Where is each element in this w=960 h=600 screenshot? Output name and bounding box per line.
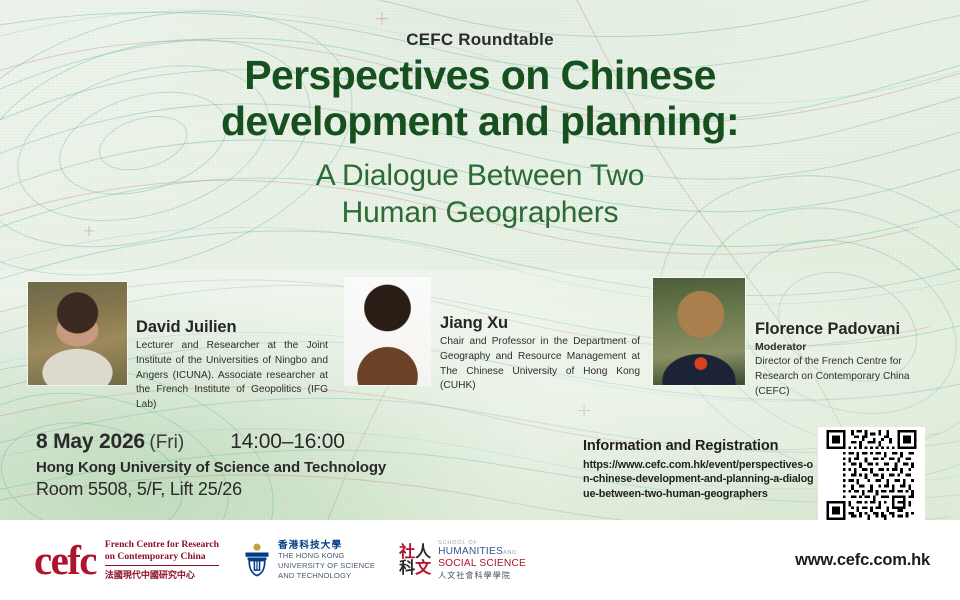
event-venue: Hong Kong University of Science and Tech… [36,459,386,476]
hkust-name-line-3: AND TECHNOLOGY [278,571,375,581]
cefc-tagline-chinese: 法國現代中國研究中心 [105,568,219,581]
event-date: 8 May 2026 [36,430,145,453]
speaker-card-david-juilien: David Juilien Lecturer and Researcher at… [28,282,328,413]
speaker-photo-florence-padovani [653,278,745,385]
subtitle-line-2: Human Geographers [0,195,960,232]
speaker-card-jiang-xu: Jiang Xu Chair and Professor in the Depa… [345,278,645,394]
speaker-name: David Juilien [136,318,328,337]
speaker-name: Jiang Xu [440,314,640,333]
event-time: 14:00–16:00 [230,430,345,454]
page-subtitle: A Dialogue Between Two Human Geographers [0,158,960,231]
speaker-bio: Director of the French Centre for Resear… [755,355,940,399]
title-line-1: Perspectives on Chinese [0,52,960,98]
speaker-photo-jiang-xu [345,278,430,385]
hkust-name-line-2: UNIVERSITY OF SCIENCE [278,561,375,571]
speaker-name: Florence Padovani [755,320,940,339]
speaker-card-florence-padovani: Florence Padovani Moderator Director of … [653,278,943,399]
school-name-chinese: 人文社會科學學院 [438,571,526,580]
footer-bar: cefc French Centre for Research on Conte… [0,520,960,600]
speaker-photo-david-juilien [28,282,127,385]
event-details: 8 May 2026 (Fri) 14:00–16:00 Hong Kong U… [36,430,386,500]
school-calligraphy-mark: 社人 科文 [399,544,431,575]
speaker-bio: Chair and Professor in the Department of… [440,335,640,394]
website-url[interactable]: www.cefc.com.hk [795,551,930,570]
registration-heading: Information and Registration [583,438,815,454]
hkust-name-line-1: THE HONG KONG [278,551,375,561]
event-room: Room 5508, 5/F, Lift 25/26 [36,479,386,500]
school-name-social-science: SOCIAL SCIENCE [438,558,526,570]
school-name-humanities: HUMANITIES [438,546,503,557]
page-title: Perspectives on Chinese development and … [0,52,960,145]
event-series-label: CEFC Roundtable [0,30,960,50]
title-line-2: development and planning: [0,98,960,144]
school-name-and: AND [503,550,517,556]
hkust-emblem-icon [243,543,271,577]
qr-code[interactable] [818,427,925,523]
speaker-role: Moderator [755,341,940,353]
partner-logos: cefc French Centre for Research on Conte… [34,539,526,580]
cefc-tagline-line-1: French Centre for Research [105,539,219,551]
hkust-logo: 香港科技大學 THE HONG KONG UNIVERSITY OF SCIEN… [243,540,375,581]
event-poster: CEFC Roundtable Perspectives on Chinese … [0,0,960,600]
hkust-name-chinese: 香港科技大學 [278,540,375,552]
speaker-bio: Lecturer and Researcher at the Joint Ins… [136,339,328,413]
cefc-tagline-line-2: on Contemporary China [105,551,219,563]
registration-block: Information and Registration https://www… [583,438,815,501]
cefc-logo: cefc French Centre for Research on Conte… [34,539,219,580]
event-weekday: (Fri) [149,432,184,453]
registration-url[interactable]: https://www.cefc.com.hk/event/perspectiv… [583,458,815,501]
school-humanities-social-science-logo: 社人 科文 SCHOOL OF HUMANITIESAND SOCIAL SCI… [399,540,526,580]
cefc-wordmark: cefc [34,543,96,577]
subtitle-line-1: A Dialogue Between Two [0,158,960,195]
cefc-divider [105,565,219,566]
